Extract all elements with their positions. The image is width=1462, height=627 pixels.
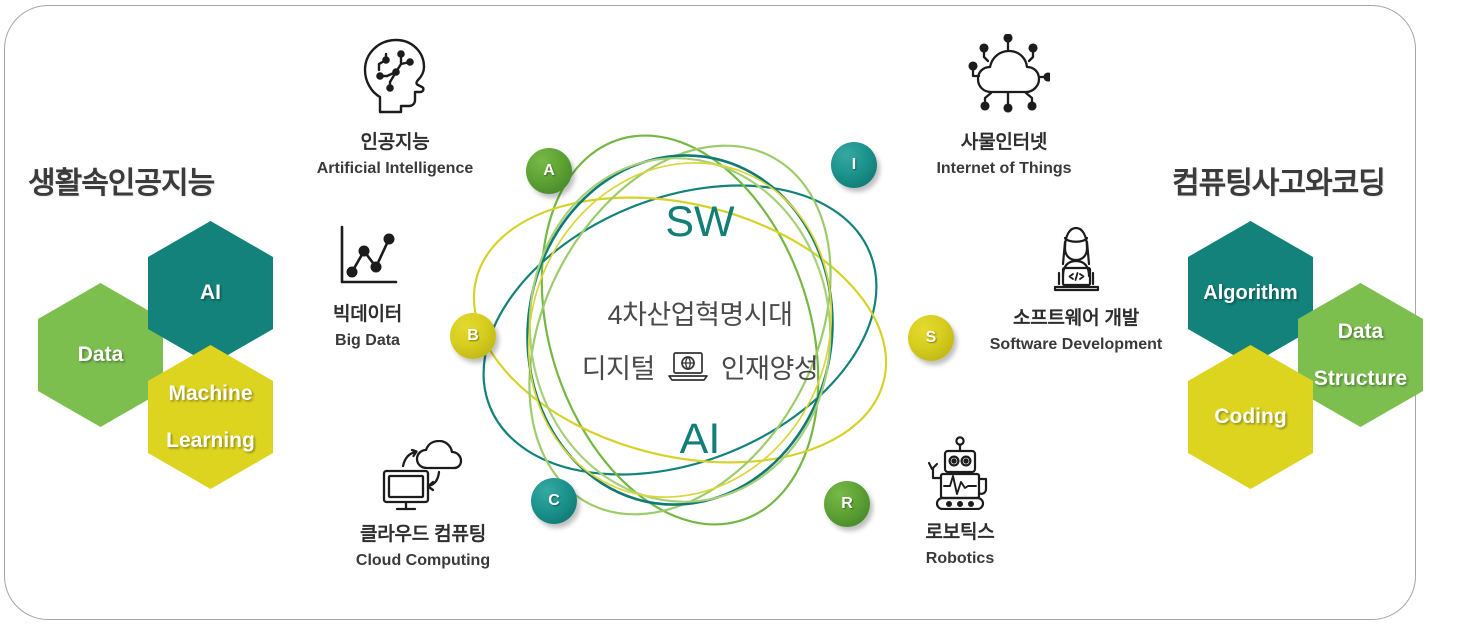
orbit-badge-a[interactable]: A bbox=[526, 148, 572, 194]
orbit-badge-c-letter: C bbox=[548, 492, 560, 510]
topic-bigdata-en: Big Data bbox=[280, 332, 455, 350]
orbit-badge-a-letter: A bbox=[543, 162, 555, 180]
topic-big-data: 빅데이터 Big Data bbox=[280, 218, 455, 350]
hexagon-data-structure-label: Data Structure bbox=[1306, 320, 1415, 391]
hexagon-data-label: Data bbox=[74, 343, 128, 367]
topic-swdev-en: Software Development bbox=[966, 336, 1186, 354]
developer-laptop-icon bbox=[966, 222, 1186, 296]
orbit-badge-i-letter: I bbox=[852, 156, 856, 174]
hexagon-algorithm-label: Algorithm bbox=[1199, 282, 1301, 304]
center-line2-pre: 디지털 bbox=[582, 347, 655, 386]
topic-swdev-ko: 소프트웨어 개발 bbox=[966, 303, 1186, 330]
laptop-globe-icon bbox=[666, 351, 710, 383]
orbit-badge-i[interactable]: I bbox=[831, 142, 877, 188]
infographic-canvas: 생활속인공지능 Data AI Machine Learning 컴퓨팅사고와코… bbox=[0, 0, 1462, 627]
line-chart-icon bbox=[280, 218, 455, 292]
orbit-badge-r[interactable]: R bbox=[824, 481, 870, 527]
hexagon-ai-label: AI bbox=[196, 281, 225, 305]
center-line-1: 4차산업혁명시대 bbox=[525, 293, 875, 332]
center-line2-post: 인재양성 bbox=[721, 347, 818, 386]
orbit-badge-b-letter: B bbox=[467, 327, 479, 345]
ds-line1: Data bbox=[1310, 320, 1411, 344]
center-label-ai: AI bbox=[575, 415, 825, 464]
hexagon-coding-label: Coding bbox=[1210, 405, 1290, 429]
cloud-network-icon bbox=[904, 28, 1104, 120]
ml-line2: Learning bbox=[162, 429, 259, 453]
orbit-badge-r-letter: R bbox=[841, 495, 853, 513]
orbit-badge-s-letter: S bbox=[926, 329, 937, 347]
ds-line2: Structure bbox=[1310, 367, 1411, 391]
right-section-title: 컴퓨팅사고와코딩 bbox=[1172, 158, 1385, 202]
left-section-title: 생활속인공지능 bbox=[28, 158, 214, 202]
orbit-badge-c[interactable]: C bbox=[531, 478, 577, 524]
ml-line1: Machine bbox=[162, 382, 259, 406]
hexagon-machine-learning-label: Machine Learning bbox=[158, 382, 263, 453]
orbit-badge-b[interactable]: B bbox=[450, 313, 496, 359]
topic-iot-en: Internet of Things bbox=[904, 160, 1104, 178]
topic-software-development: 소프트웨어 개발 Software Development bbox=[966, 222, 1186, 354]
center-label-sw: SW bbox=[575, 198, 825, 247]
topic-bigdata-ko: 빅데이터 bbox=[280, 299, 455, 326]
topic-iot-ko: 사물인터넷 bbox=[904, 127, 1104, 154]
topic-internet-of-things: 사물인터넷 Internet of Things bbox=[904, 28, 1104, 178]
center-line-2: 디지털 인재양성 bbox=[510, 347, 890, 386]
orbit-badge-s[interactable]: S bbox=[908, 315, 954, 361]
